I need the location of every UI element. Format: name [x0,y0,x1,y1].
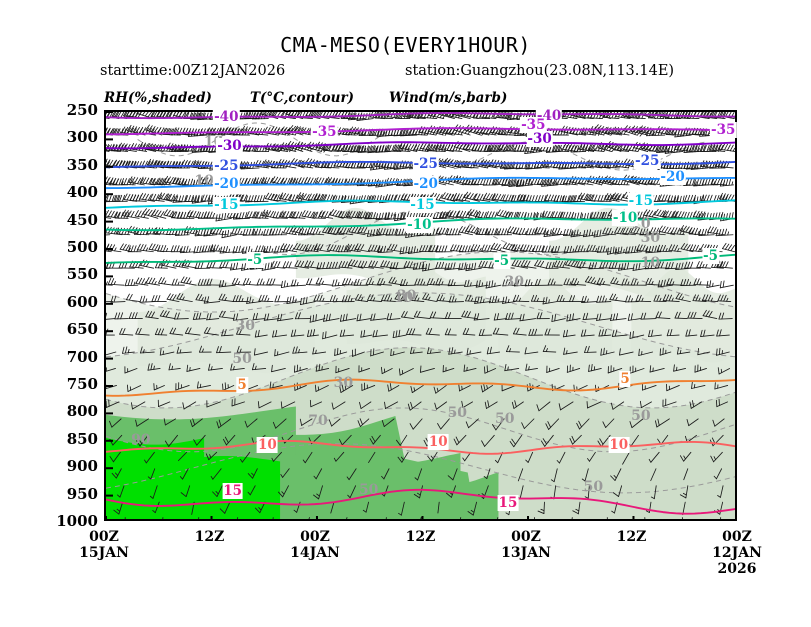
y-tick-950: 950 [67,485,98,503]
temperature-contour-label: -35 [311,124,337,140]
legend-item-0: RH(%,shaded) [104,90,212,106]
x-tick-6: 00Z12JAN2026 [712,529,762,577]
x-tick-3: 12Z [406,529,436,545]
y-tick-600: 600 [67,293,98,311]
temperature-contour-label: -20 [213,176,239,192]
station-label: station:Guangzhou(23.08N,113.14E) [405,63,674,79]
x-tick-time: 00Z [712,529,762,545]
temperature-contour-label: 5 [619,371,630,387]
temperature-contour-label: 5 [236,377,247,393]
temperature-contour-label: -25 [412,156,438,172]
y-tick-1000: 1000 [56,512,98,530]
y-tick-500: 500 [67,238,98,256]
y-tick-900: 900 [67,457,98,475]
temperature-contour-label: -5 [246,252,263,268]
y-tick-250: 250 [67,101,98,119]
temperature-contour-label: -30 [526,131,552,147]
temperature-contour-label: -10 [406,217,432,233]
x-tick-2: 00Z14JAN [290,529,340,561]
rh-contour-label: 30 [334,375,353,391]
temperature-contour-label: -5 [702,248,719,264]
temperature-contour-label: -10 [612,210,638,226]
temperature-contour-label: -25 [634,153,660,169]
x-tick-time: 12Z [406,529,436,545]
temperature-contour-label: -15 [409,197,435,213]
temperature-contour-label: -30 [216,138,242,154]
rh-contour-label: 10 [194,173,213,189]
x-tick-time: 00Z [79,529,129,545]
x-tick-time: 12Z [195,529,225,545]
y-tick-350: 350 [67,156,98,174]
temperature-contour-label: -20 [412,176,438,192]
rh-contour-label: 50 [359,482,378,498]
y-tick-750: 750 [67,375,98,393]
temperature-contour-label: 10 [428,434,449,450]
y-tick-400: 400 [67,183,98,201]
page-title: CMA-MESO(EVERY1HOUR) [0,33,811,57]
temperature-contour-label: -40 [213,109,239,125]
legend-item-1: T(°C,contour) [250,90,354,106]
x-tick-time: 00Z [290,529,340,545]
x-tick-5: 12Z [617,529,647,545]
rh-contour-label: 10 [641,255,660,271]
x-tick-4: 00Z13JAN [501,529,551,561]
rh-contour-label: 50 [584,479,603,495]
x-tick-time: 00Z [501,529,551,545]
rh-contour-label: 50 [448,405,467,421]
rh-contour-label: 30 [641,230,660,246]
x-tick-date: 14JAN [290,545,340,561]
legend: RH(%,shaded)T(°C,contour)Wind(m/s,barb) [104,90,744,108]
x-tick-date: 13JAN [501,545,551,561]
temperature-contour-label: -25 [213,158,239,174]
x-tick-1: 12Z [195,529,225,545]
temperature-contour-label: 10 [257,437,278,453]
rh-contour-label: 50 [631,408,650,424]
temperature-contour-label: -35 [710,122,736,138]
starttime-label: starttime:00Z12JAN2026 [100,63,285,79]
y-tick-450: 450 [67,211,98,229]
x-tick-year: 2026 [712,561,762,577]
x-tick-0: 00Z15JAN [79,529,129,561]
y-tick-800: 800 [67,402,98,420]
y-tick-550: 550 [67,265,98,283]
temperature-contour-label: -5 [493,253,510,269]
rh-contour-label: 30 [236,318,255,334]
x-tick-date: 15JAN [79,545,129,561]
temperature-contour-label: 15 [498,495,519,511]
rh-contour-label: 30 [397,288,416,304]
plot-area: 101010101030303030305050505050507090-40-… [104,110,737,521]
temperature-contour-label: -15 [628,193,654,209]
rh-contour-label: 70 [308,413,327,429]
subtitle-row: starttime:00Z12JAN2026 station:Guangzhou… [100,63,740,83]
y-tick-300: 300 [67,128,98,146]
legend-item-2: Wind(m/s,barb) [389,90,507,106]
temperature-contour-label: -20 [659,169,685,185]
x-tick-time: 12Z [617,529,647,545]
temperature-contour-label: 15 [222,483,243,499]
y-tick-700: 700 [67,348,98,366]
rh-contour-label: 30 [505,274,524,290]
x-tick-date: 12JAN [712,545,762,561]
x-axis: 00Z15JAN12Z00Z14JAN12Z00Z13JAN12Z00Z12JA… [104,525,737,585]
rh-contour-label: 50 [232,351,251,367]
temperature-contour-label: 10 [608,437,629,453]
y-axis: 2503003504004505005506006507007508008509… [40,110,98,521]
y-tick-650: 650 [67,320,98,338]
temperature-contour-label: -15 [213,197,239,213]
y-tick-850: 850 [67,430,98,448]
rh-contour-label: 50 [495,411,514,427]
rh-contour-label: 90 [131,432,150,448]
